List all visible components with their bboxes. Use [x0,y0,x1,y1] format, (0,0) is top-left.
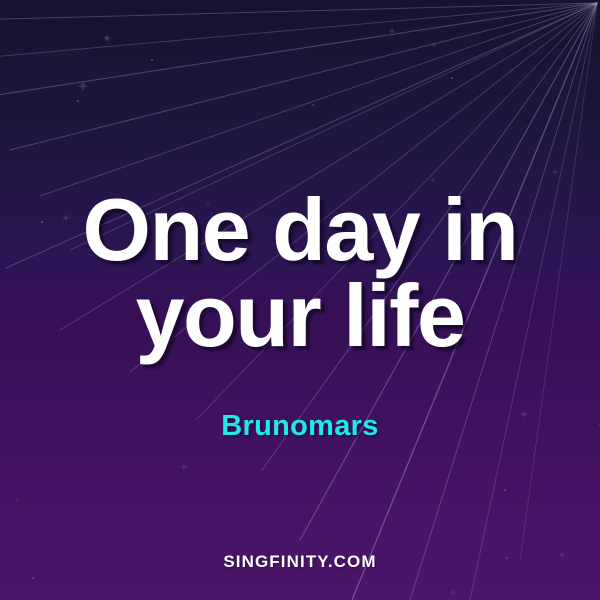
song-title: One day in your life [0,188,600,359]
song-title-line-2: your life [22,274,578,358]
card-content: One day in your life Brunomars SINGFINIT… [0,0,600,600]
song-title-line-1: One day in [22,188,578,272]
artist-name: Brunomars [0,410,600,443]
site-brand-footer: SINGFINITY.COM [0,552,600,572]
song-lyric-card: One day in your life Brunomars SINGFINIT… [0,0,600,600]
